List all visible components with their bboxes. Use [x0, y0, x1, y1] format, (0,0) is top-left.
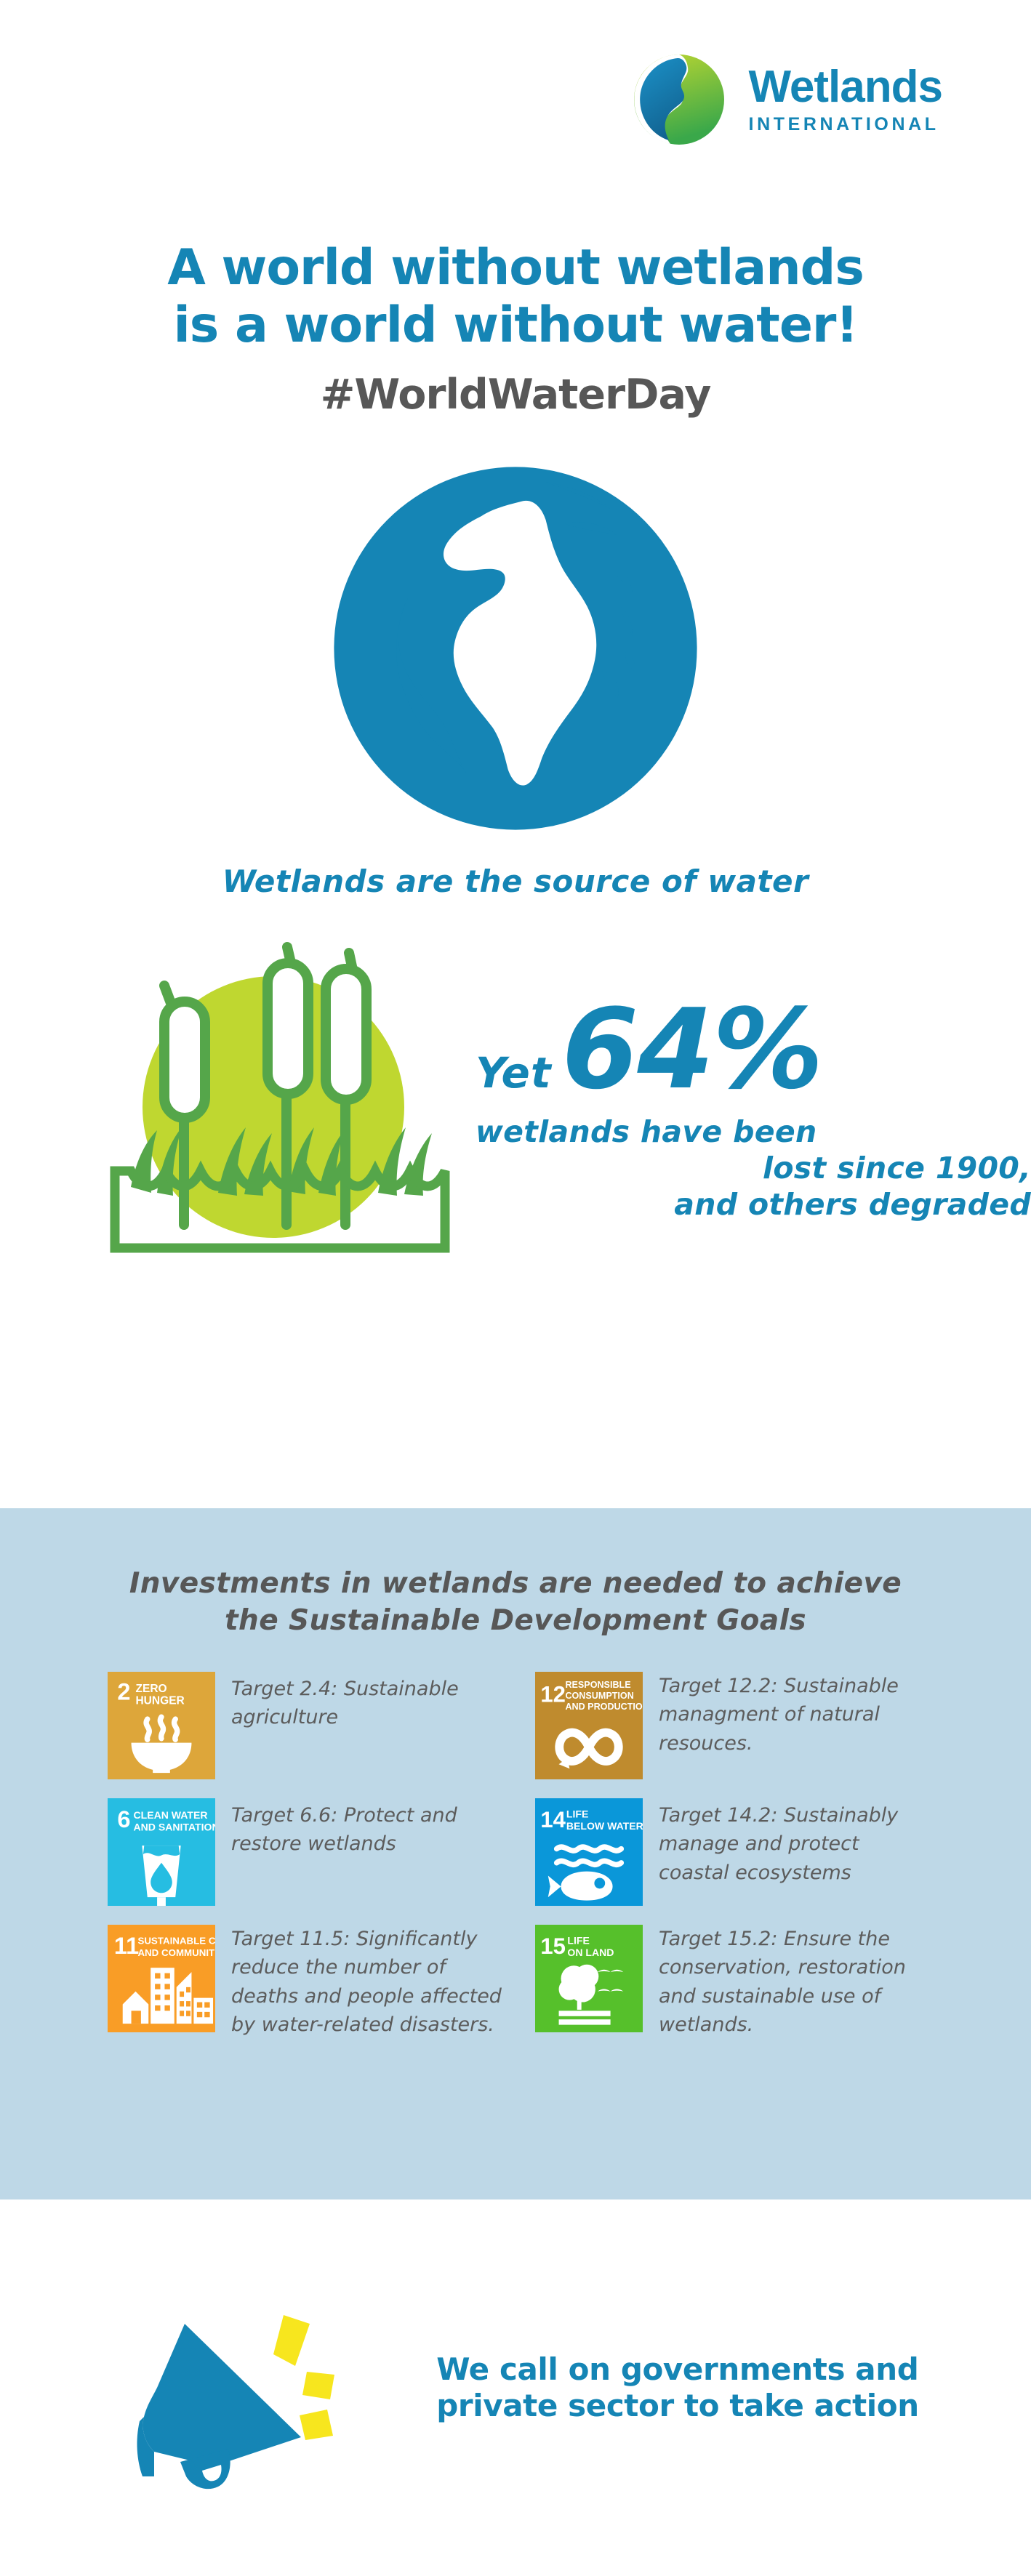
svg-text:14: 14 — [540, 1807, 566, 1832]
cattails-illustration — [109, 940, 451, 1260]
sdg-description-15: Target 15.2: Ensure the conservation, re… — [643, 1925, 934, 2040]
sdg-heading-line-2: the Sustainable Development Goals — [0, 1602, 1031, 1639]
svg-text:AND COMMUNITIES: AND COMMUNITIES — [137, 1947, 215, 1958]
call-to-action-section: We call on governments and private secto… — [0, 2199, 1031, 2576]
svg-text:SUSTAINABLE CITIES: SUSTAINABLE CITIES — [137, 1936, 215, 1947]
headline-line-1: A world without wetlands — [0, 240, 1031, 297]
sdg-badge-11[interactable]: 11 SUSTAINABLE CITIES AND COMMUNITIES — [108, 1925, 215, 2032]
hashtag: #WorldWaterDay — [0, 371, 1031, 419]
megaphone-icon — [112, 2279, 417, 2497]
sdg-badge-12[interactable]: 12 RESPONSIBLE CONSUMPTION AND PRODUCTIO… — [535, 1672, 643, 1779]
cta-line-1: We call on governments and — [436, 2351, 918, 2388]
sdg-description-14: Target 14.2: Sustainably manage and prot… — [643, 1798, 934, 1887]
svg-text:LIFE: LIFE — [566, 1808, 588, 1820]
svg-text:RESPONSIBLE: RESPONSIBLE — [565, 1680, 630, 1690]
water-glass-icon — [142, 1846, 180, 1906]
sdg-description-2: Target 2.4: Sustainable agriculture — [215, 1672, 506, 1732]
statistic-line-1: wetlands have been — [476, 1114, 1031, 1150]
sdg-left-column: 2 ZERO HUNGER Target 2.4: Sustainable ag… — [108, 1672, 528, 2058]
globe-illustration — [0, 459, 1031, 837]
sdg-heading-line-1: Investments in wetlands are needed to ac… — [0, 1565, 1031, 1602]
statistic-prefix: Yet — [476, 1048, 552, 1111]
globe-icon — [326, 459, 705, 837]
sdg-goal-11[interactable]: 11 SUSTAINABLE CITIES AND COMMUNITIES — [108, 1925, 528, 2040]
wetlands-logo-icon — [628, 49, 730, 150]
page-title: A world without wetlands is a world with… — [0, 240, 1031, 419]
sdg-goal-2[interactable]: 2 ZERO HUNGER Target 2.4: Sustainable ag… — [108, 1672, 528, 1779]
sdg-right-column: 12 RESPONSIBLE CONSUMPTION AND PRODUCTIO… — [535, 1672, 955, 2058]
svg-text:AND SANITATION: AND SANITATION — [134, 1821, 215, 1832]
sdg-heading: Investments in wetlands are needed to ac… — [0, 1508, 1031, 1640]
sdg-goal-14[interactable]: 14 LIFE BELOW WATER T — [535, 1798, 955, 1906]
svg-text:LIFE: LIFE — [567, 1935, 589, 1947]
sdg-goals-grid: 2 ZERO HUNGER Target 2.4: Sustainable ag… — [0, 1640, 1031, 2058]
sdg-section: Investments in wetlands are needed to ac… — [0, 1508, 1031, 2199]
globe-caption: Wetlands are the source of water — [0, 864, 1031, 899]
sdg-description-12: Target 12.2: Sustainable managment of na… — [643, 1672, 934, 1758]
svg-text:HUNGER: HUNGER — [135, 1694, 184, 1707]
call-to-action-text: We call on governments and private secto… — [436, 2351, 918, 2423]
sdg-goal-12[interactable]: 12 RESPONSIBLE CONSUMPTION AND PRODUCTIO… — [535, 1672, 955, 1779]
svg-text:CONSUMPTION: CONSUMPTION — [565, 1691, 633, 1701]
svg-text:ON LAND: ON LAND — [567, 1947, 614, 1958]
cta-line-2: private sector to take action — [436, 2388, 918, 2424]
svg-text:12: 12 — [540, 1681, 566, 1707]
headline-line-2: is a world without water! — [0, 297, 1031, 355]
sdg-goal-15[interactable]: 15 LIFE ON LAND — [535, 1925, 955, 2040]
svg-text:11: 11 — [114, 1933, 139, 1959]
sdg-badge-14[interactable]: 14 LIFE BELOW WATER — [535, 1798, 643, 1906]
svg-text:15: 15 — [540, 1933, 566, 1959]
logo-wordmark: Wetlands INTERNATIONAL — [749, 65, 942, 135]
sdg-description-6: Target 6.6: Protect and restore wetlands — [215, 1798, 506, 1859]
statistic-section: Yet 64% wetlands have been lost since 19… — [0, 940, 1031, 1260]
statistic-line-2: lost since 1900, — [476, 1150, 1031, 1186]
svg-text:CLEAN WATER: CLEAN WATER — [134, 1809, 208, 1821]
sdg-goal-6[interactable]: 6 CLEAN WATER AND SANITATION Target 6.6:… — [108, 1798, 528, 1906]
statistic-text: Yet 64% wetlands have been lost since 19… — [451, 940, 1031, 1223]
svg-text:AND PRODUCTION: AND PRODUCTION — [565, 1702, 643, 1712]
sdg-description-11: Target 11.5: Significantly reduce the nu… — [215, 1925, 506, 2040]
statistic-value: 64% — [562, 1002, 822, 1098]
statistic-description: wetlands have been lost since 1900, and … — [476, 1114, 1031, 1223]
svg-text:BELOW WATER: BELOW WATER — [566, 1820, 643, 1832]
header-logo: Wetlands INTERNATIONAL — [0, 0, 1031, 154]
sdg-badge-2[interactable]: 2 ZERO HUNGER — [108, 1672, 215, 1779]
svg-text:6: 6 — [117, 1806, 130, 1832]
sdg-badge-6[interactable]: 6 CLEAN WATER AND SANITATION — [108, 1798, 215, 1906]
svg-text:ZERO: ZERO — [135, 1683, 167, 1695]
logo-word: Wetlands — [749, 65, 942, 110]
logo-subtitle: INTERNATIONAL — [749, 114, 942, 135]
svg-text:2: 2 — [117, 1678, 130, 1704]
sdg-badge-15[interactable]: 15 LIFE ON LAND — [535, 1925, 643, 2032]
statistic-line-3: and others degraded — [476, 1186, 1031, 1223]
